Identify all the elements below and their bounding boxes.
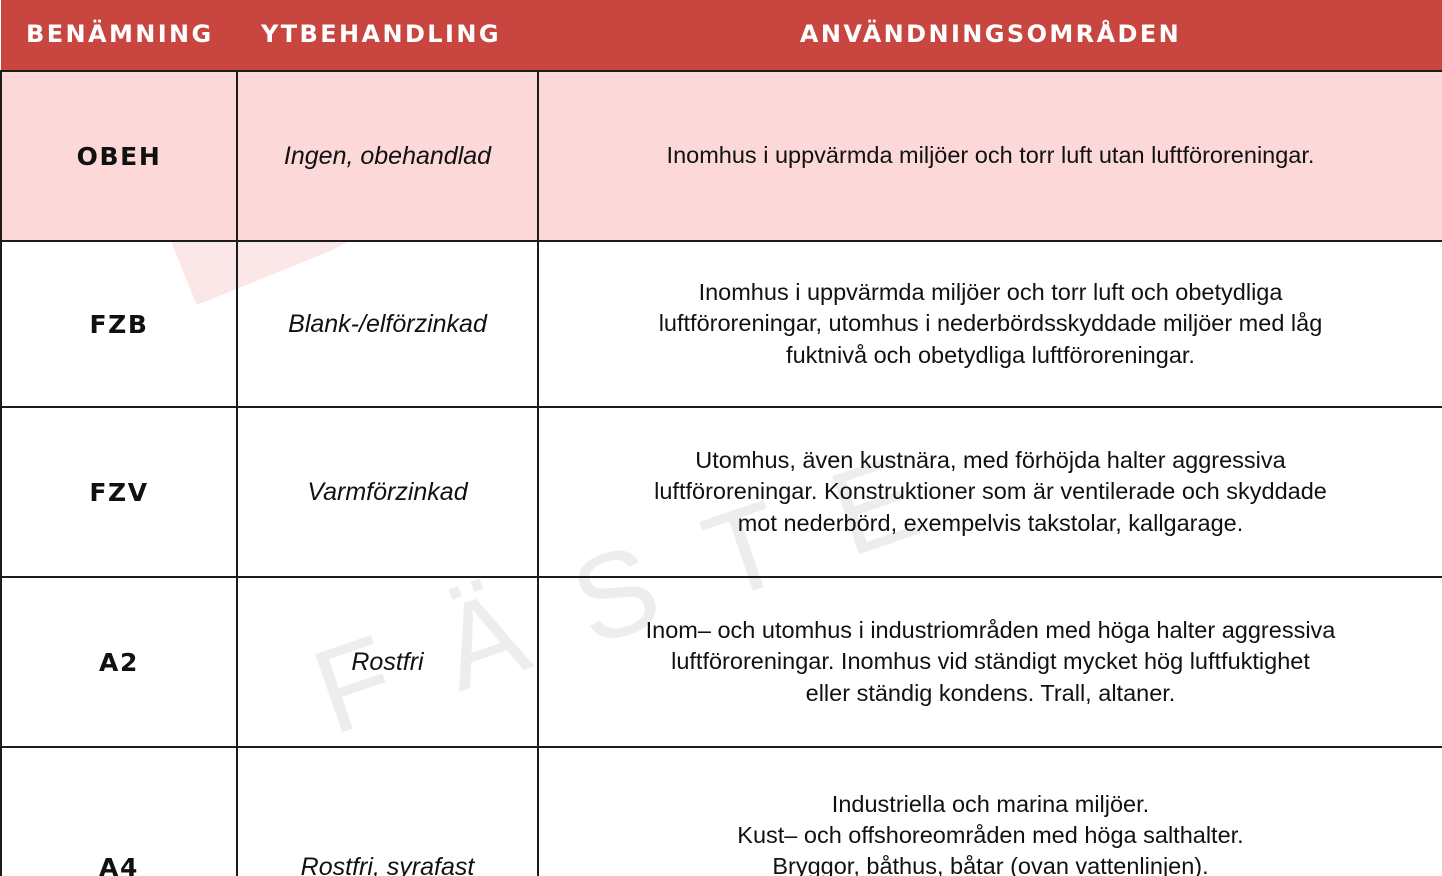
table-row: OBEH Ingen, obehandlad Inomhus i uppvärm… bbox=[1, 71, 1442, 241]
usage-line: Utomhus, även kustnära, med förhöjda hal… bbox=[555, 445, 1426, 476]
usage-line: Industriella och marina miljöer. bbox=[555, 789, 1426, 820]
cell-code: FZV bbox=[1, 407, 237, 577]
column-header-ytbehandling: YTBEHANDLING bbox=[237, 0, 538, 71]
usage-line: mot nederbörd, exempelvis takstolar, kal… bbox=[555, 508, 1426, 539]
usage-line: Kust– och offshoreområden med höga salth… bbox=[555, 820, 1426, 851]
table-row: FZB Blank-/elförzinkad Inomhus i uppvärm… bbox=[1, 241, 1442, 407]
table-row: A2 Rostfri Inom– och utomhus i industrio… bbox=[1, 577, 1442, 747]
table-page: BULTAB ELEMENT FÄSTE BENÄMNING YTBEHANDL… bbox=[0, 0, 1442, 876]
usage-line: luftföroreningar. Konstruktioner som är … bbox=[555, 476, 1426, 507]
column-header-anvandningsomraden: ANVÄNDNINGSOMRÅDEN bbox=[538, 0, 1442, 71]
usage-line: luftföroreningar, utomhus i nederbördssk… bbox=[555, 308, 1426, 339]
table-body: OBEH Ingen, obehandlad Inomhus i uppvärm… bbox=[1, 71, 1442, 876]
cell-code: A2 bbox=[1, 577, 237, 747]
cell-treatment: Varmförzinkad bbox=[237, 407, 538, 577]
cell-treatment: Rostfri, syrafast bbox=[237, 747, 538, 876]
usage-line: fuktnivå och obetydliga luftföroreningar… bbox=[555, 340, 1426, 371]
surface-treatment-table: BENÄMNING YTBEHANDLING ANVÄNDNINGSOMRÅDE… bbox=[0, 0, 1442, 876]
column-header-benamning: BENÄMNING bbox=[1, 0, 237, 71]
usage-line: Bryggor, båthus, båtar (ovan vattenlinje… bbox=[555, 851, 1426, 876]
cell-treatment: Rostfri bbox=[237, 577, 538, 747]
cell-code: A4 bbox=[1, 747, 237, 876]
usage-line: Inomhus i uppvärmda miljöer och torr luf… bbox=[555, 277, 1426, 308]
usage-line: eller ständig kondens. Trall, altaner. bbox=[555, 678, 1426, 709]
cell-usage: Inomhus i uppvärmda miljöer och torr luf… bbox=[538, 241, 1442, 407]
usage-line: Inomhus i uppvärmda miljöer och torr luf… bbox=[555, 140, 1426, 171]
cell-treatment: Blank-/elförzinkad bbox=[237, 241, 538, 407]
cell-usage: Inomhus i uppvärmda miljöer och torr luf… bbox=[538, 71, 1442, 241]
usage-line: luftföroreningar. Inomhus vid ständigt m… bbox=[555, 646, 1426, 677]
table-row: FZV Varmförzinkad Utomhus, även kustnära… bbox=[1, 407, 1442, 577]
cell-usage: Inom– och utomhus i industriområden med … bbox=[538, 577, 1442, 747]
surface-treatment-table-wrapper: BENÄMNING YTBEHANDLING ANVÄNDNINGSOMRÅDE… bbox=[0, 0, 1442, 876]
table-header: BENÄMNING YTBEHANDLING ANVÄNDNINGSOMRÅDE… bbox=[1, 0, 1442, 71]
cell-code: OBEH bbox=[1, 71, 237, 241]
usage-line: Inom– och utomhus i industriområden med … bbox=[555, 615, 1426, 646]
cell-code: FZB bbox=[1, 241, 237, 407]
cell-usage: Utomhus, även kustnära, med förhöjda hal… bbox=[538, 407, 1442, 577]
cell-treatment: Ingen, obehandlad bbox=[237, 71, 538, 241]
table-row: A4 Rostfri, syrafast Industriella och ma… bbox=[1, 747, 1442, 876]
table-header-row: BENÄMNING YTBEHANDLING ANVÄNDNINGSOMRÅDE… bbox=[1, 0, 1442, 71]
cell-usage: Industriella och marina miljöer. Kust– o… bbox=[538, 747, 1442, 876]
